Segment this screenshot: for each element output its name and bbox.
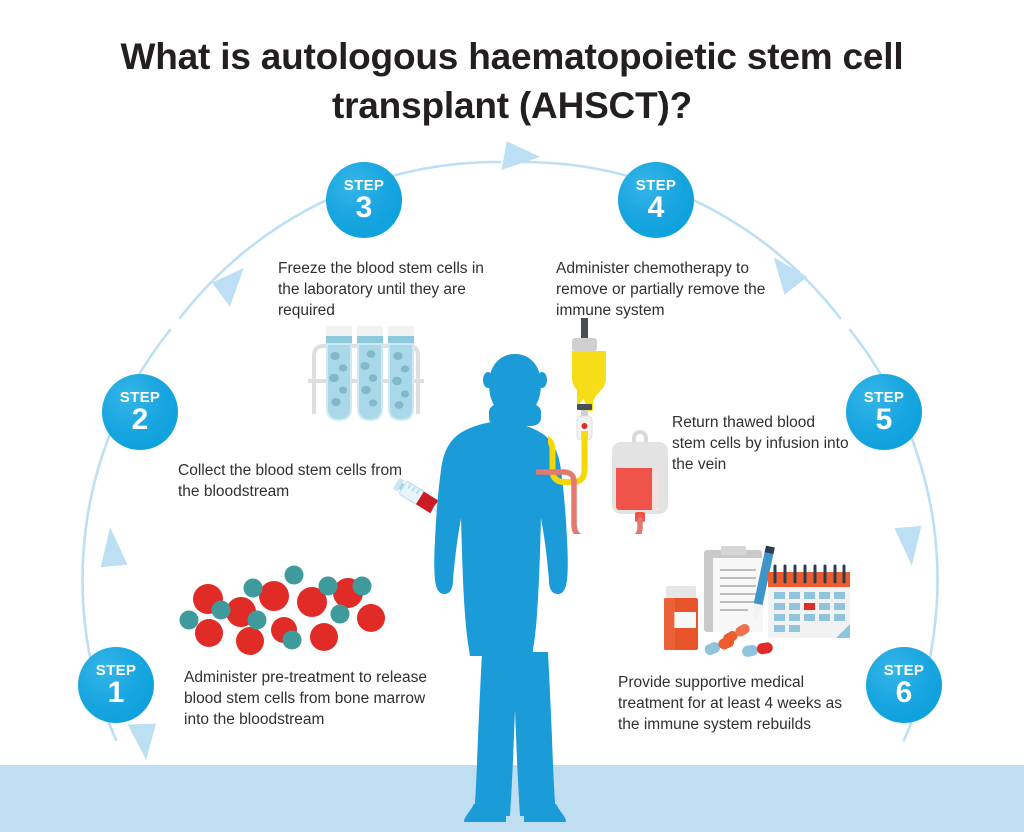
step-caption-1: Administer pre-treatment to release bloo… [184,667,452,730]
step-badge-3[interactable]: STEP 3 [326,162,402,238]
step-caption-3: Freeze the blood stem cells in the labor… [278,258,494,321]
infographic-canvas: What is autologous haematopoietic stem c… [0,0,1024,832]
step-badge-6[interactable]: STEP 6 [866,647,942,723]
medical-supplies-illustration [658,524,858,660]
step-badge-number: 2 [132,404,149,435]
blood-bag-illustration [536,424,672,534]
step-badge-4[interactable]: STEP 4 [618,162,694,238]
test-tube-rack-illustration [296,318,436,438]
step-badge-5[interactable]: STEP 5 [846,374,922,450]
step-caption-6: Provide supportive medical treatment for… [618,672,858,735]
blood-cells-illustration [178,552,390,658]
step-badge-number: 1 [108,677,125,708]
step-badge-2[interactable]: STEP 2 [102,374,178,450]
step-caption-5: Return thawed blood stem cells by infusi… [672,412,852,475]
step-caption-4: Administer chemotherapy to remove or par… [556,258,772,321]
step-badge-number: 3 [356,192,373,223]
step-badge-number: 4 [648,192,665,223]
step-badge-number: 6 [896,677,913,708]
step-caption-2: Collect the blood stem cells from the bl… [178,460,402,502]
step-badge-1[interactable]: STEP 1 [78,647,154,723]
step-badge-number: 5 [876,404,893,435]
